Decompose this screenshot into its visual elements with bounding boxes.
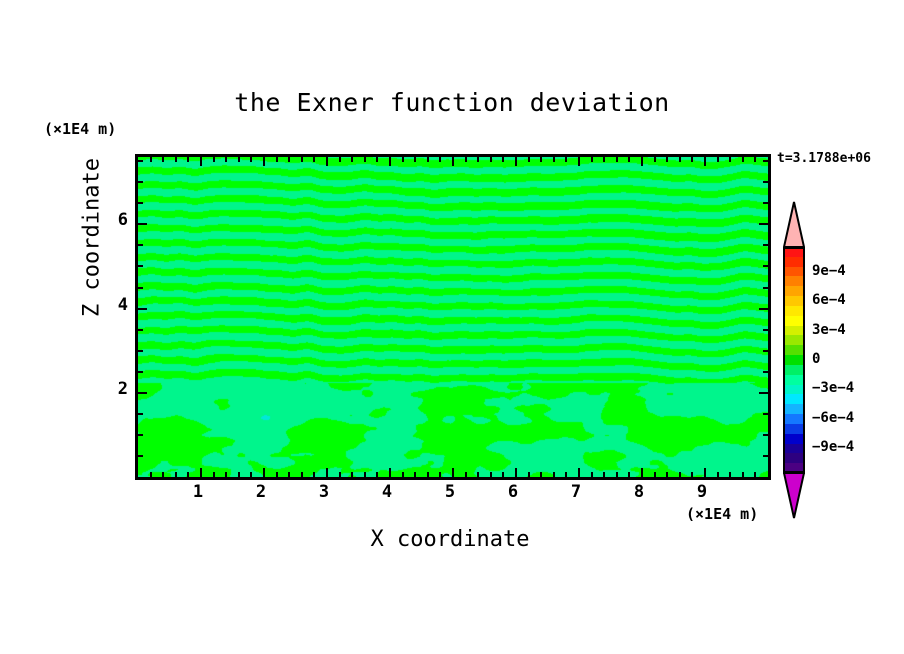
y-tick-minor — [763, 265, 768, 267]
x-tick-minor — [414, 472, 416, 477]
colorbar-tick-label: 0 — [812, 351, 820, 367]
x-tick-major — [641, 468, 643, 477]
x-tick-minor — [754, 157, 756, 162]
x-tick-major — [704, 468, 706, 477]
x-tick-minor — [313, 472, 315, 477]
y-tick-minor — [763, 202, 768, 204]
x-tick-minor — [729, 157, 731, 162]
y-tick-minor — [763, 413, 768, 415]
x-tick-minor — [313, 157, 315, 162]
y-tick-minor — [138, 181, 143, 183]
x-tick-minor — [150, 157, 152, 162]
x-tick-minor — [465, 472, 467, 477]
x-tick-minor — [553, 472, 555, 477]
x-tick-minor — [591, 157, 593, 162]
x-tick-minor — [628, 472, 630, 477]
x-tick-major — [515, 468, 517, 477]
x-tick-major — [389, 468, 391, 477]
y-tick-minor — [763, 455, 768, 457]
x-tick-minor — [628, 157, 630, 162]
x-tick-major — [200, 157, 202, 166]
x-tick-minor — [603, 157, 605, 162]
y-tick-major — [759, 223, 768, 225]
x-tick-minor — [666, 157, 668, 162]
x-tick-minor — [691, 157, 693, 162]
x-tick-major — [452, 468, 454, 477]
x-tick-minor — [225, 472, 227, 477]
x-tick-minor — [502, 472, 504, 477]
x-tick-minor — [276, 157, 278, 162]
x-tick-minor — [528, 157, 530, 162]
x-tick-minor — [213, 157, 215, 162]
x-tick-major — [263, 468, 265, 477]
x-axis-title: X coordinate — [135, 527, 765, 552]
y-tick-minor — [138, 244, 143, 246]
x-tick-minor — [414, 157, 416, 162]
x-tick-minor — [477, 472, 479, 477]
y-tick-minor — [138, 265, 143, 267]
y-tick-minor — [763, 244, 768, 246]
timestamp-annotation: t=3.1788e+06 — [777, 151, 871, 166]
x-tick-minor — [427, 157, 429, 162]
x-tick-major — [515, 157, 517, 166]
x-tick-minor — [339, 472, 341, 477]
x-tick-minor — [490, 157, 492, 162]
x-tick-minor — [654, 472, 656, 477]
x-tick-major — [641, 157, 643, 166]
x-tick-minor — [540, 157, 542, 162]
colorbar-tick-label: −9e−4 — [812, 439, 854, 455]
y-tick-minor — [138, 434, 143, 436]
y-tick-minor — [763, 329, 768, 331]
x-tick-minor — [616, 472, 618, 477]
x-tick-label: 3 — [309, 482, 339, 502]
y-tick-minor — [763, 434, 768, 436]
colorbar-tick-label: 3e−4 — [812, 322, 846, 338]
x-tick-minor — [679, 157, 681, 162]
x-tick-label: 6 — [498, 482, 528, 502]
x-tick-minor — [162, 472, 164, 477]
y-tick-major — [138, 308, 147, 310]
x-tick-minor — [301, 157, 303, 162]
x-tick-major — [200, 468, 202, 477]
x-tick-minor — [679, 472, 681, 477]
colorbar-tick-label: 6e−4 — [812, 292, 846, 308]
x-tick-minor — [238, 472, 240, 477]
x-tick-minor — [364, 472, 366, 477]
x-tick-minor — [187, 472, 189, 477]
x-tick-minor — [691, 472, 693, 477]
x-tick-label: 2 — [246, 482, 276, 502]
x-tick-minor — [717, 472, 719, 477]
x-tick-minor — [616, 157, 618, 162]
figure-root: the Exner function deviation (×1E4 m) (×… — [0, 0, 904, 654]
x-tick-minor — [666, 472, 668, 477]
y-tick-major — [138, 223, 147, 225]
y-tick-minor — [138, 329, 143, 331]
x-tick-major — [452, 157, 454, 166]
x-tick-minor — [213, 472, 215, 477]
y-tick-minor — [763, 371, 768, 373]
x-tick-minor — [175, 472, 177, 477]
x-tick-major — [263, 157, 265, 166]
x-tick-minor — [250, 157, 252, 162]
x-tick-minor — [238, 157, 240, 162]
colorbar-tick-label: −3e−4 — [812, 380, 854, 396]
x-axis-unit-label: (×1E4 m) — [686, 505, 758, 523]
y-tick-minor — [138, 160, 143, 162]
x-tick-minor — [465, 157, 467, 162]
colorbar-tick-label: 9e−4 — [812, 263, 846, 279]
x-tick-major — [326, 468, 328, 477]
y-tick-minor — [763, 350, 768, 352]
colorbar-under-arrow — [783, 472, 805, 519]
x-tick-minor — [754, 472, 756, 477]
x-tick-minor — [427, 472, 429, 477]
x-tick-label: 9 — [687, 482, 717, 502]
x-tick-major — [578, 157, 580, 166]
x-tick-minor — [477, 157, 479, 162]
y-tick-minor — [763, 287, 768, 289]
x-tick-major — [389, 157, 391, 166]
x-tick-minor — [729, 472, 731, 477]
x-tick-minor — [402, 157, 404, 162]
x-tick-minor — [502, 157, 504, 162]
x-tick-minor — [301, 472, 303, 477]
y-tick-major — [759, 308, 768, 310]
y-tick-label: 2 — [98, 379, 128, 399]
x-tick-minor — [376, 157, 378, 162]
x-tick-minor — [603, 472, 605, 477]
y-tick-minor — [138, 202, 143, 204]
x-tick-minor — [162, 157, 164, 162]
y-tick-major — [138, 392, 147, 394]
x-tick-minor — [654, 157, 656, 162]
x-tick-minor — [565, 472, 567, 477]
y-tick-label: 4 — [98, 295, 128, 315]
x-tick-label: 8 — [624, 482, 654, 502]
x-tick-minor — [250, 472, 252, 477]
y-tick-label: 6 — [98, 210, 128, 230]
x-tick-minor — [187, 157, 189, 162]
x-tick-minor — [402, 472, 404, 477]
x-tick-major — [326, 157, 328, 166]
x-tick-label: 4 — [372, 482, 402, 502]
page-title: the Exner function deviation — [0, 88, 904, 117]
x-tick-minor — [717, 157, 719, 162]
x-tick-minor — [288, 157, 290, 162]
y-tick-minor — [138, 287, 143, 289]
y-tick-major — [759, 392, 768, 394]
x-tick-minor — [742, 157, 744, 162]
x-tick-minor — [288, 472, 290, 477]
x-tick-minor — [591, 472, 593, 477]
x-tick-label: 7 — [561, 482, 591, 502]
colorbar — [783, 247, 805, 473]
colorbar-tick-label: −6e−4 — [812, 410, 854, 426]
x-tick-label: 1 — [183, 482, 213, 502]
contour-plot-panel — [135, 154, 771, 480]
x-tick-minor — [553, 157, 555, 162]
x-tick-minor — [439, 157, 441, 162]
x-tick-minor — [351, 157, 353, 162]
x-tick-minor — [376, 472, 378, 477]
x-tick-minor — [528, 472, 530, 477]
x-tick-minor — [175, 157, 177, 162]
colorbar-over-arrow — [783, 201, 805, 248]
y-tick-minor — [138, 455, 143, 457]
y-tick-minor — [138, 371, 143, 373]
x-tick-minor — [364, 157, 366, 162]
x-tick-minor — [351, 472, 353, 477]
contour-field — [138, 157, 768, 477]
y-tick-minor — [138, 413, 143, 415]
x-tick-minor — [490, 472, 492, 477]
x-tick-major — [578, 468, 580, 477]
x-tick-minor — [150, 472, 152, 477]
x-tick-minor — [225, 157, 227, 162]
x-tick-minor — [742, 472, 744, 477]
y-tick-minor — [138, 350, 143, 352]
x-tick-minor — [540, 472, 542, 477]
x-tick-minor — [565, 157, 567, 162]
x-tick-label: 5 — [435, 482, 465, 502]
y-tick-minor — [763, 160, 768, 162]
x-tick-minor — [276, 472, 278, 477]
y-tick-minor — [763, 181, 768, 183]
x-tick-major — [704, 157, 706, 166]
x-tick-minor — [439, 472, 441, 477]
x-tick-minor — [339, 157, 341, 162]
